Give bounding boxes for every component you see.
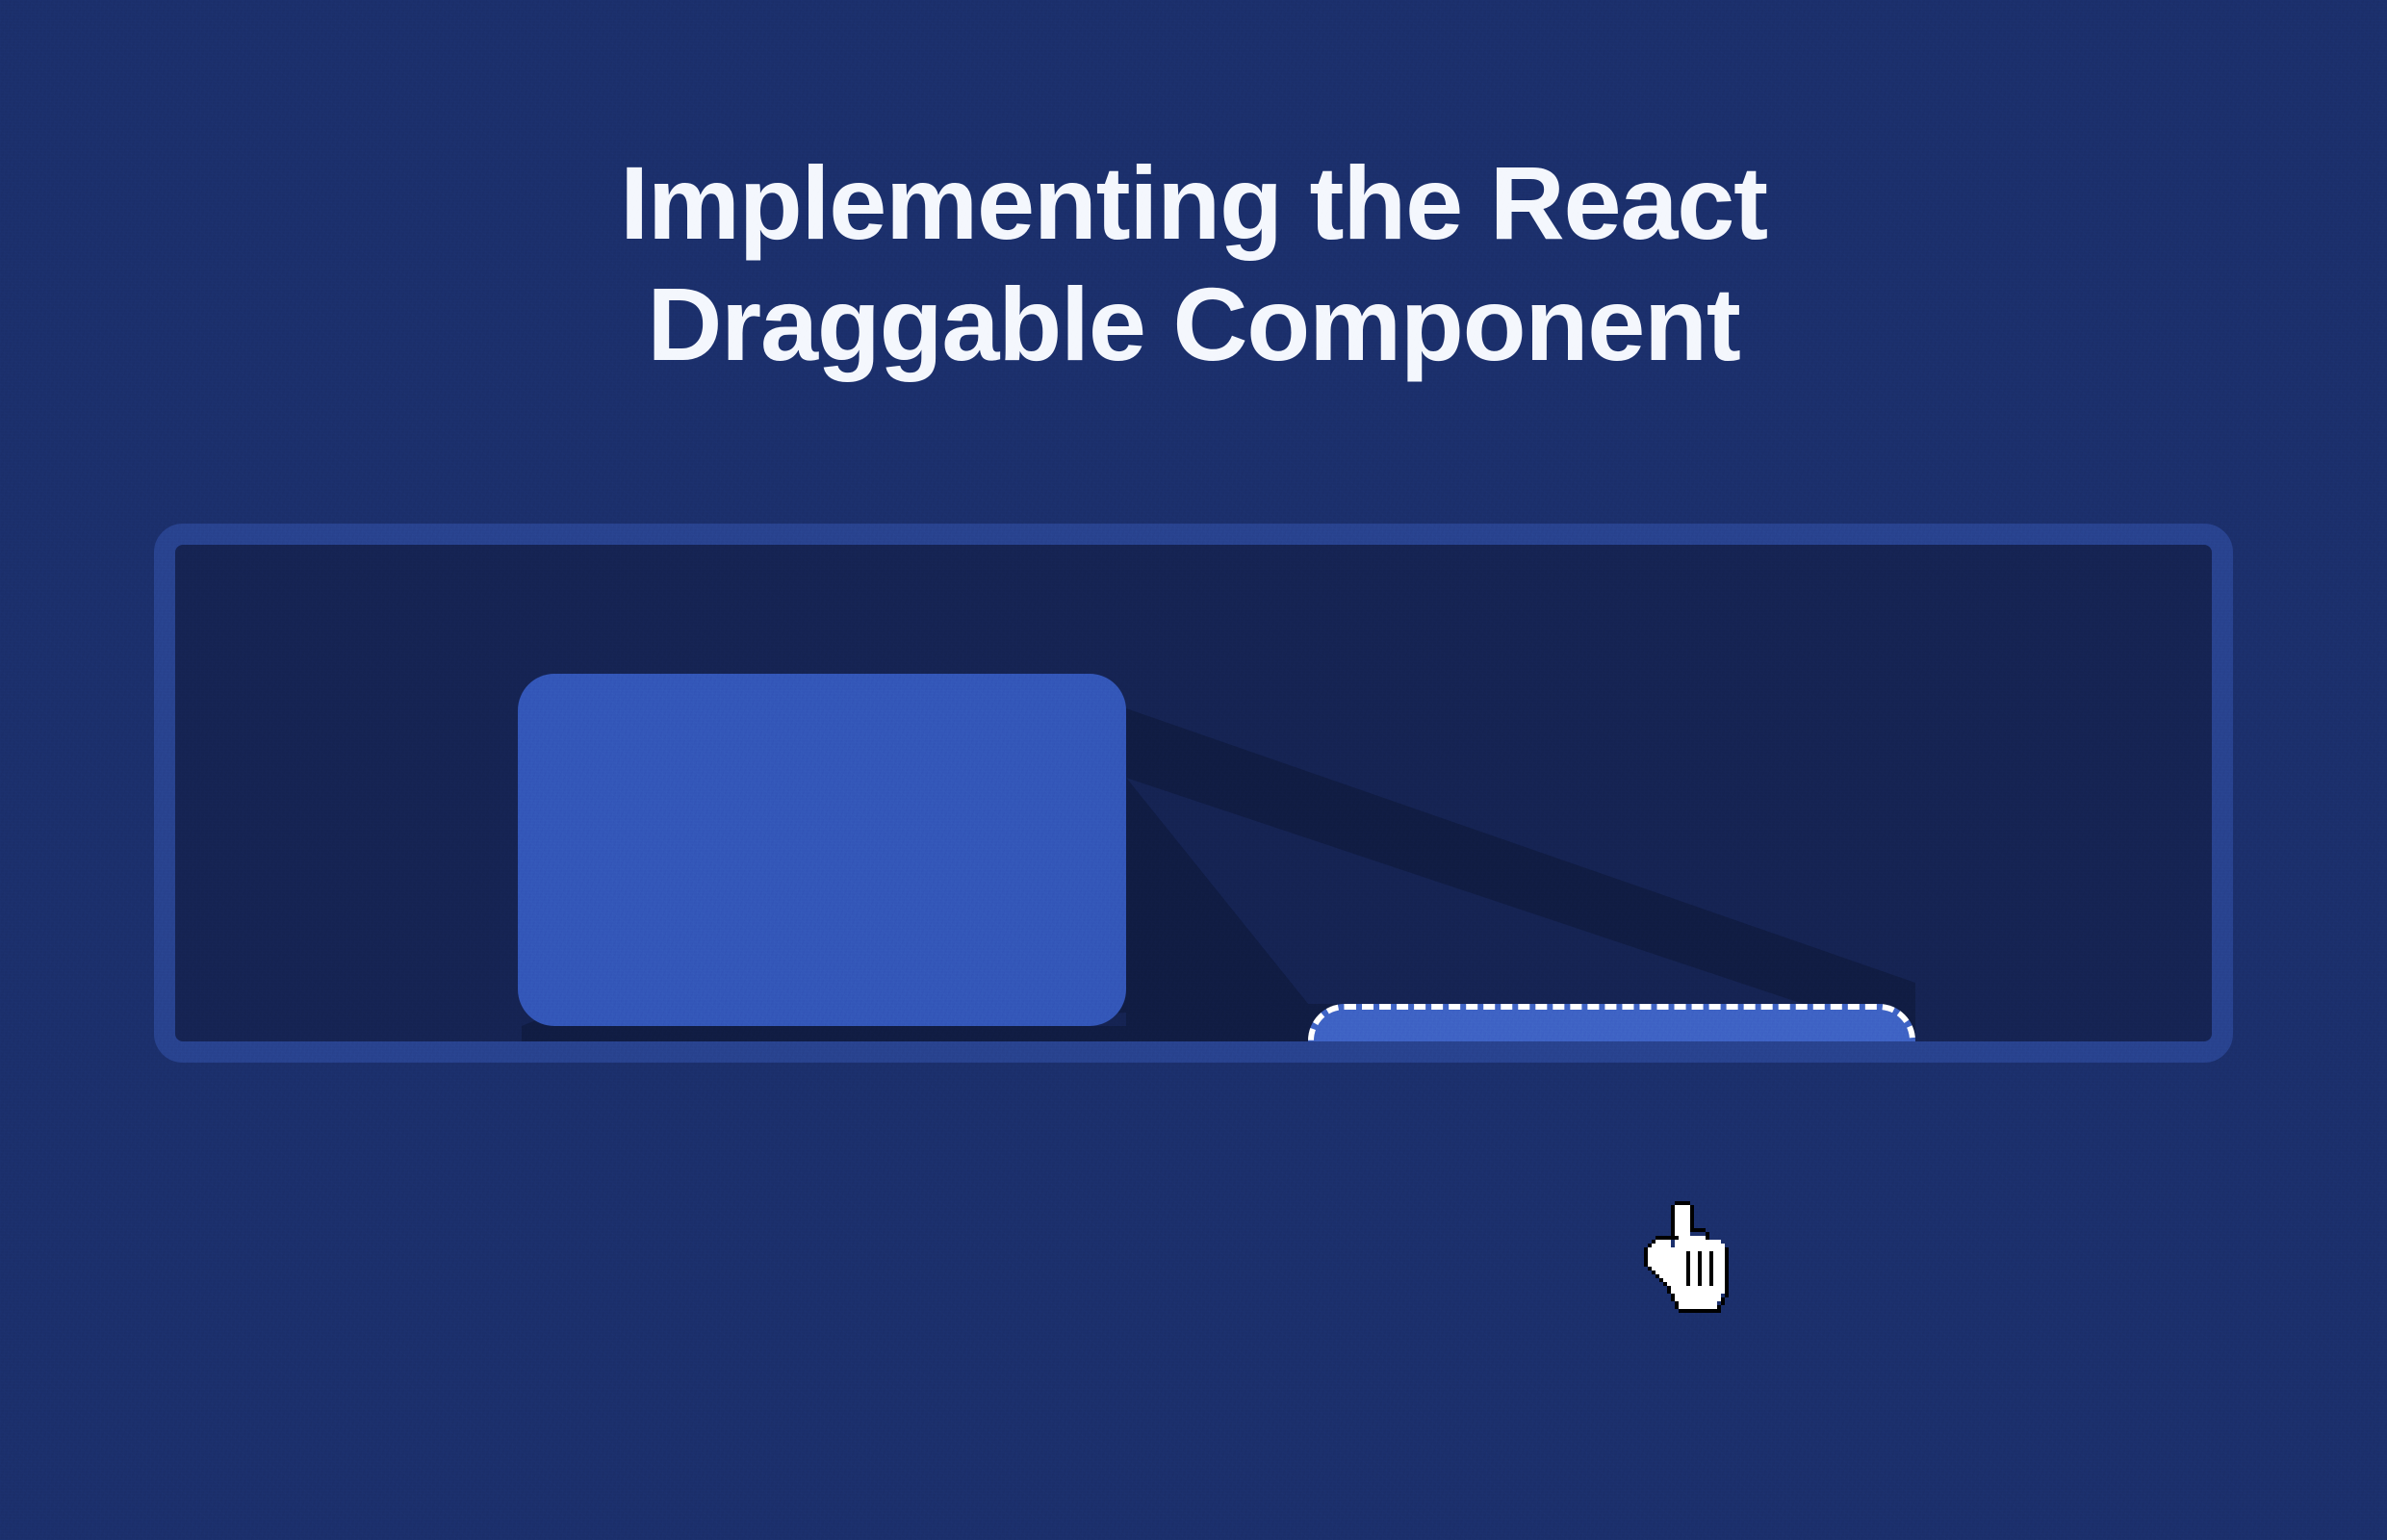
draggable-box-dragging[interactable]	[1308, 1004, 1915, 1041]
page-title-line-1: Implementing the React	[0, 142, 2387, 264]
page-title-line-2: Draggable Component	[0, 264, 2387, 385]
draggable-demo-panel	[154, 524, 2233, 1063]
draggable-demo-canvas[interactable]	[175, 545, 2212, 1041]
page-title: Implementing the React Draggable Compone…	[0, 142, 2387, 385]
screenshot-root: Implementing the React Draggable Compone…	[0, 0, 2387, 1540]
drag-shadow-trail	[175, 545, 2212, 1041]
pointing-hand-cursor-icon	[1644, 1201, 1744, 1321]
draggable-box-origin[interactable]	[518, 674, 1126, 1026]
